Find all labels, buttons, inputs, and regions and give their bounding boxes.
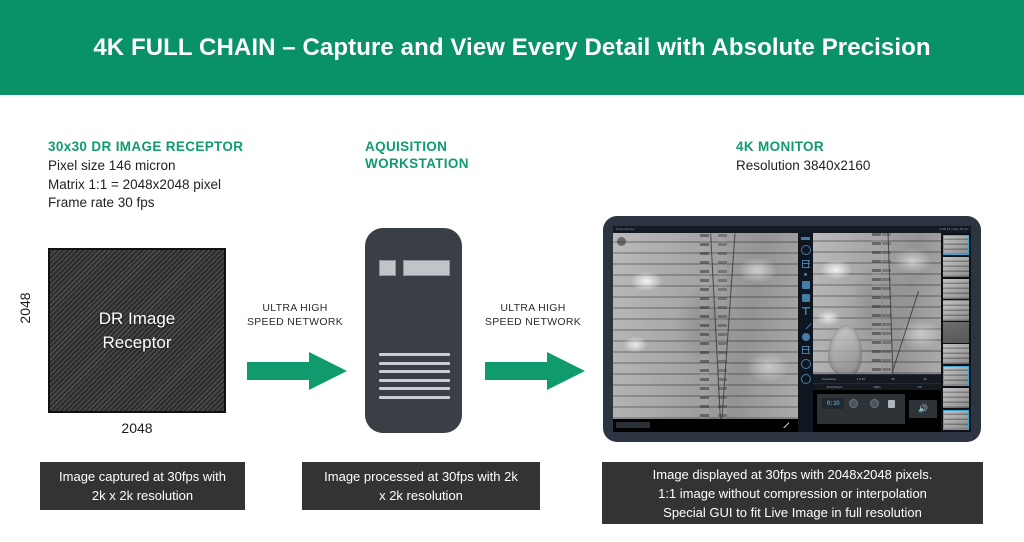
annotate-pen-icon[interactable]	[783, 422, 789, 428]
receptor-vertical-dimension: 2048	[17, 278, 33, 338]
receptor-caption: Image captured at 30fps with 2k x 2k res…	[40, 462, 245, 510]
info-cell: 1.0 kV	[845, 377, 877, 381]
live-panel-status-bar	[613, 419, 798, 432]
tower-power-led-icon	[379, 260, 396, 276]
text-icon[interactable]	[802, 307, 810, 315]
speaker-icon: 🔊	[918, 405, 928, 413]
flow-arrow-icon-2	[485, 350, 585, 392]
list-item[interactable]	[943, 257, 969, 277]
live-status-chip	[616, 422, 650, 428]
header-banner: 4K FULL CHAIN – Capture and View Every D…	[0, 0, 1024, 95]
gui-topbar-left-label: Fluoroscopy	[616, 227, 635, 231]
stack-icon[interactable]	[802, 294, 810, 302]
image-status-badge-icon	[617, 237, 626, 246]
monitor-caption: Image displayed at 30fps with 2048x2048 …	[602, 462, 983, 524]
info-row-top: Acquisition 1.0 kV 50 40	[813, 375, 941, 384]
lock-icon[interactable]	[888, 400, 895, 408]
gui-body: Acquisition 1.0 kV 50 40 ACQ Fluoro 30fp…	[613, 233, 971, 432]
monitor-specs: Resolution 3840x2160	[736, 157, 870, 176]
receptor-horizontal-dimension: 2048	[48, 420, 226, 436]
reference-image-wrap	[813, 233, 941, 374]
live-image-panel[interactable]	[613, 233, 798, 432]
brightness-icon[interactable]	[801, 237, 810, 240]
receptor-specs: Pixel size 146 micron Matrix 1:1 = 2048x…	[48, 157, 221, 213]
tower-drive-bay-icon	[403, 260, 450, 276]
info-cell: 40	[909, 377, 941, 381]
acquisition-workstation-tower	[365, 228, 462, 433]
network-label-2: ULTRA HIGH SPEED NETWORK	[478, 302, 588, 329]
playback-next-button[interactable]	[870, 399, 879, 408]
playback-prev-button[interactable]	[849, 399, 858, 408]
page-title: 4K FULL CHAIN – Capture and View Every D…	[93, 34, 930, 62]
list-item[interactable]	[943, 366, 969, 386]
flow-arrow-icon-1	[247, 350, 347, 392]
list-item[interactable]	[943, 300, 969, 320]
dr-image-receptor-panel: DR Image Receptor	[48, 248, 226, 413]
info-cell: 30fps	[856, 385, 899, 389]
list-item[interactable]	[943, 279, 969, 299]
4k-monitor: Fluoroscopy 0.00 21 mGy 15:41	[603, 216, 981, 442]
gui-top-status-bar: Fluoroscopy 0.00 21 mGy 15:41	[613, 226, 971, 233]
dot-icon[interactable]	[804, 273, 807, 276]
live-xray-image[interactable]	[613, 233, 798, 419]
receptor-heading: 30x30 DR IMAGE RECEPTOR	[48, 138, 243, 155]
layers-icon[interactable]	[802, 281, 810, 289]
receptor-panel-label: DR Image Receptor	[99, 307, 176, 355]
info-cell: 50	[877, 377, 909, 381]
gui-info-strip: Acquisition 1.0 kV 50 40 ACQ Fluoro 30fp…	[813, 374, 941, 390]
pan-icon[interactable]	[802, 333, 810, 341]
loop-icon[interactable]	[801, 374, 811, 384]
gui-topbar-right-label: 0.00 21 mGy 15:41	[939, 227, 968, 231]
info-cell: Acquisition	[813, 377, 845, 381]
playback-control-panel[interactable]: 0:10	[817, 394, 905, 424]
info-cell: ACQ Fluoro	[813, 385, 856, 389]
rotate-icon[interactable]	[801, 245, 811, 255]
thumbnail-strip[interactable]	[941, 233, 971, 432]
tower-vents	[379, 353, 450, 404]
workstation-heading: AQUISITION WORKSTATION	[365, 138, 545, 172]
reference-panel-column: Acquisition 1.0 kV 50 40 ACQ Fluoro 30fp…	[813, 233, 941, 432]
crop-icon[interactable]	[802, 260, 810, 268]
frame-counter: 0:10	[822, 398, 844, 409]
pelvis-region	[828, 325, 862, 374]
network-label-1: ULTRA HIGH SPEED NETWORK	[240, 302, 350, 329]
monitor-screen: Fluoroscopy 0.00 21 mGy 15:41	[613, 226, 971, 432]
monitor-heading: 4K MONITOR	[736, 138, 824, 155]
speaker-button[interactable]: 🔊	[909, 400, 937, 418]
list-item[interactable]	[943, 322, 969, 342]
undo-icon[interactable]	[801, 359, 811, 369]
list-item[interactable]	[943, 235, 969, 255]
list-item[interactable]	[943, 344, 969, 364]
gui-control-bar: 0:10 🔊	[813, 390, 941, 432]
info-cell: OK	[898, 385, 941, 389]
grid-icon[interactable]	[802, 346, 810, 354]
gui-vertical-toolbar[interactable]	[798, 233, 813, 432]
workstation-caption: Image processed at 30fps with 2k x 2k re…	[302, 462, 540, 510]
measure-icon[interactable]	[800, 318, 811, 329]
reference-xray-image[interactable]	[813, 233, 941, 374]
list-item[interactable]	[943, 410, 969, 430]
list-item[interactable]	[943, 388, 969, 408]
